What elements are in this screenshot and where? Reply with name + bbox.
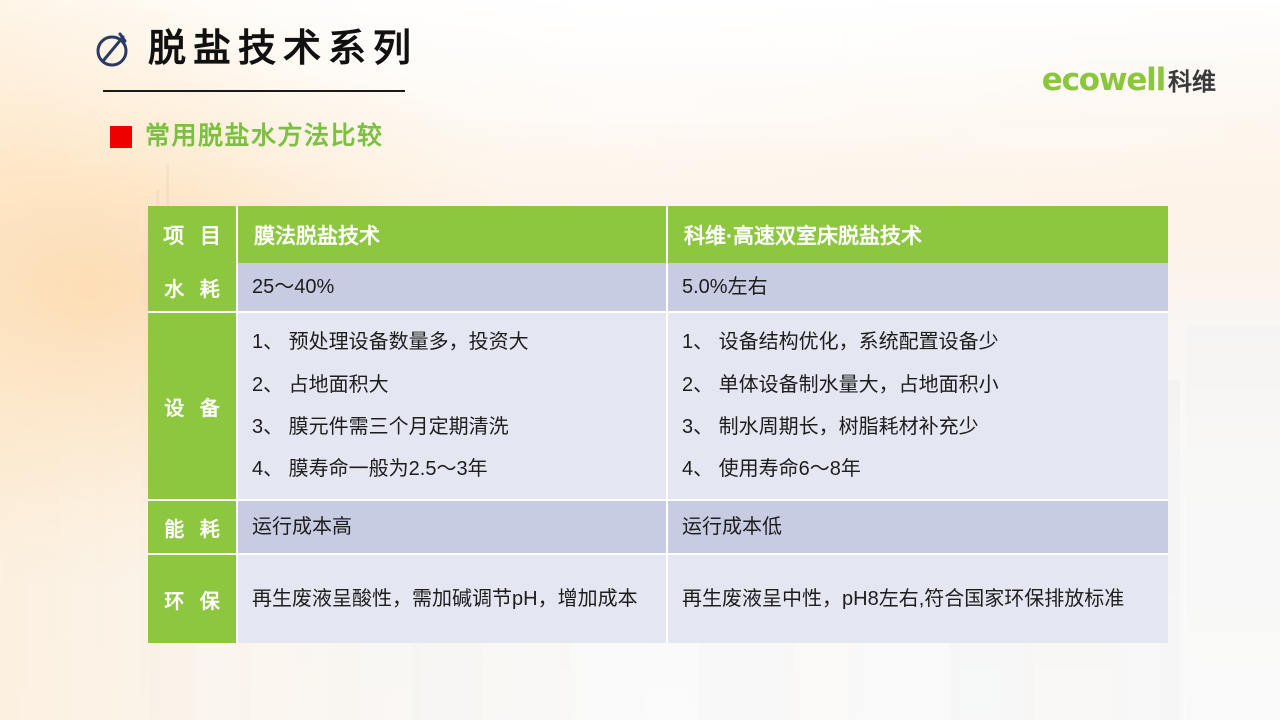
cell-water-ecowell: 5.0%左右 — [668, 263, 1168, 313]
row-label-equipment: 设 备 — [148, 313, 238, 501]
cell-water-membrane: 25～40% — [238, 263, 668, 313]
table-row-water: 水 耗 25～40% 5.0%左右 — [148, 263, 1168, 313]
row-label-environment: 环 保 — [148, 555, 238, 643]
pen-circle-icon — [92, 28, 134, 70]
brand-logo-chinese: 科维 — [1168, 62, 1216, 97]
list-item: 4、 膜寿命一般为2.5～3年 — [252, 448, 652, 490]
list-item: 4、 使用寿命6～8年 — [682, 448, 1154, 490]
cell-equipment-membrane: 1、 预处理设备数量多，投资大 2、 占地面积大 3、 膜元件需三个月定期清洗 … — [238, 313, 668, 501]
list-item: 1、 设备结构优化，系统配置设备少 — [682, 321, 1154, 363]
slide-title-row: 脱盐技术系列 — [92, 28, 418, 70]
cell-energy-ecowell: 运行成本低 — [668, 501, 1168, 555]
table-row-energy: 能 耗 运行成本高 运行成本低 — [148, 501, 1168, 555]
page-title: 脱盐技术系列 — [148, 30, 418, 68]
cell-equipment-ecowell: 1、 设备结构优化，系统配置设备少 2、 单体设备制水量大，占地面积小 3、 制… — [668, 313, 1168, 501]
table-header-row: 项 目 膜法脱盐技术 科维·高速双室床脱盐技术 — [148, 206, 1168, 263]
row-label-water: 水 耗 — [148, 263, 238, 313]
comparison-table-wrap: 项 目 膜法脱盐技术 科维·高速双室床脱盐技术 水 耗 25～40% 5.0%左… — [148, 206, 1168, 643]
section-subtitle-row: 常用脱盐水方法比较 — [110, 124, 384, 149]
comparison-table: 项 目 膜法脱盐技术 科维·高速双室床脱盐技术 水 耗 25～40% 5.0%左… — [148, 206, 1168, 643]
list-item: 2、 单体设备制水量大，占地面积小 — [682, 364, 1154, 406]
table-row-equipment: 设 备 1、 预处理设备数量多，投资大 2、 占地面积大 3、 膜元件需三个月定… — [148, 313, 1168, 501]
list-item: 3、 制水周期长，树脂耗材补充少 — [682, 406, 1154, 448]
slide-canvas: 脱盐技术系列 常用脱盐水方法比较 ecowell 科维 项 目 膜法脱盐技术 科… — [0, 0, 1280, 720]
header-item-label: 项 目 — [148, 206, 238, 263]
list-item: 3、 膜元件需三个月定期清洗 — [252, 406, 652, 448]
section-subtitle: 常用脱盐水方法比较 — [145, 124, 384, 149]
equipment-membrane-list: 1、 预处理设备数量多，投资大 2、 占地面积大 3、 膜元件需三个月定期清洗 … — [252, 321, 652, 491]
brand-logo-latin: ecowell — [1042, 62, 1165, 98]
title-underline — [103, 90, 405, 92]
list-item: 1、 预处理设备数量多，投资大 — [252, 321, 652, 363]
cell-energy-membrane: 运行成本高 — [238, 501, 668, 555]
red-square-bullet-icon — [110, 126, 132, 148]
row-label-energy: 能 耗 — [148, 501, 238, 555]
cell-environment-ecowell: 再生废液呈中性，pH8左右,符合国家环保排放标准 — [668, 555, 1168, 643]
equipment-ecowell-list: 1、 设备结构优化，系统配置设备少 2、 单体设备制水量大，占地面积小 3、 制… — [682, 321, 1154, 491]
brand-logo: ecowell 科维 — [1042, 62, 1216, 98]
header-col-membrane: 膜法脱盐技术 — [238, 206, 668, 263]
header-col-ecowell: 科维·高速双室床脱盐技术 — [668, 206, 1168, 263]
list-item: 2、 占地面积大 — [252, 364, 652, 406]
table-row-environment: 环 保 再生废液呈酸性，需加碱调节pH，增加成本 再生废液呈中性，pH8左右,符… — [148, 555, 1168, 643]
cell-environment-membrane: 再生废液呈酸性，需加碱调节pH，增加成本 — [238, 555, 668, 643]
